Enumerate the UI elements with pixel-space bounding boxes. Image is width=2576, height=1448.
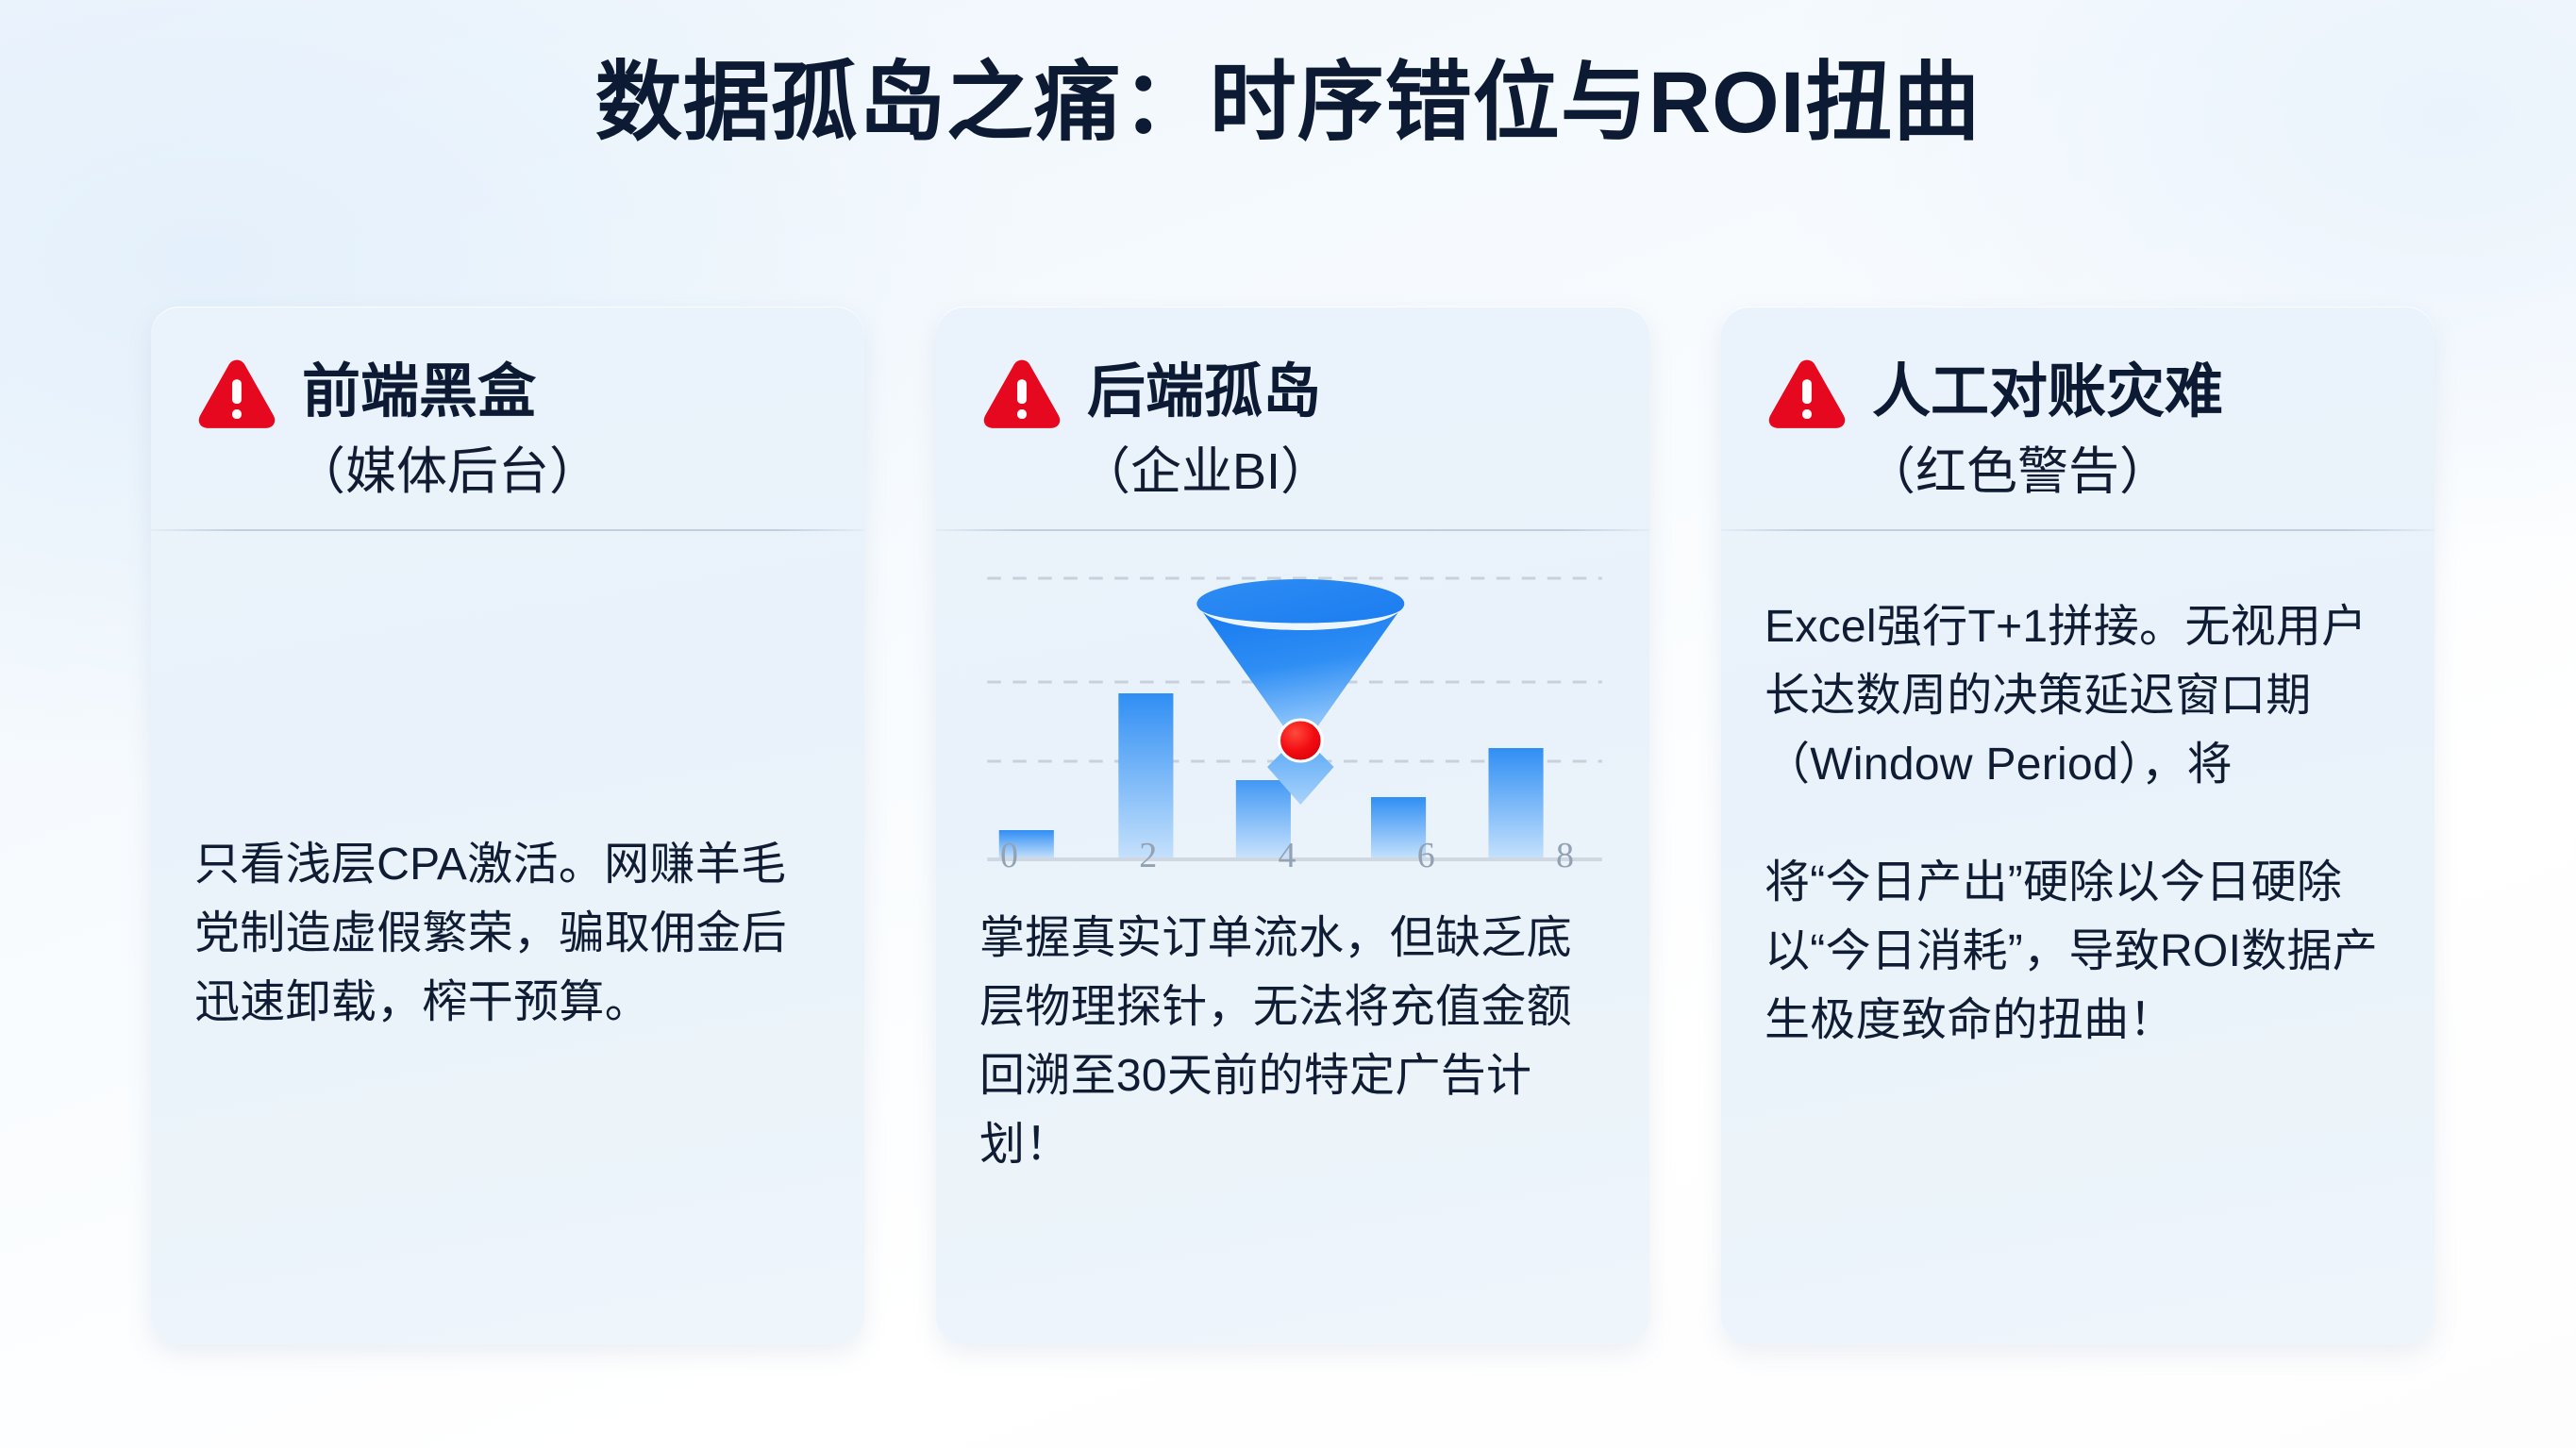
card-header-row: 后端孤岛 xyxy=(981,356,1604,429)
card-header: 前端黑盒 （媒体后台） xyxy=(151,307,864,529)
card-paragraph: 将“今日产出”硬除以今日硬除以“今日消耗”，导致ROI数据产生极度致命的扭曲！ xyxy=(1765,849,2391,1056)
x-tick-label: 8 xyxy=(1556,835,1574,876)
x-tick-label: 0 xyxy=(1000,835,1018,876)
card-paragraph: Excel强行T+1拼接。无视用户长达数周的决策延迟窗口期（Window Per… xyxy=(1765,593,2391,800)
funnel-icon xyxy=(1196,579,1404,805)
chart-svg xyxy=(979,561,1606,873)
card-title: 后端孤岛 xyxy=(1087,360,1321,424)
warning-triangle-icon xyxy=(196,356,277,429)
card-subtitle: （红色警告） xyxy=(1766,442,2389,501)
warning-triangle-icon xyxy=(1766,356,1848,429)
card-body: Excel强行T+1拼接。无视用户长达数周的决策延迟窗口期（Window Per… xyxy=(1721,531,2434,1344)
issue-card-frontend-blackbox[interactable]: 前端黑盒 （媒体后台） 只看浅层CPA激活。网赚羊毛党制造虚假繁荣，骗取佣金后迅… xyxy=(151,307,864,1344)
x-tick-label: 2 xyxy=(1139,835,1157,876)
card-paragraph: 掌握真实订单流水，但缺乏底层物理探针，无法将充值金额回溯至30天前的特定广告计划… xyxy=(979,905,1606,1180)
card-header: 后端孤岛 （企业BI） xyxy=(936,307,1649,529)
warning-triangle-icon xyxy=(981,356,1062,429)
x-tick-label: 6 xyxy=(1417,835,1435,876)
funnel-bar-chart: 0 2 4 6 8 xyxy=(979,561,1606,873)
issue-card-backend-island[interactable]: 后端孤岛 （企业BI） xyxy=(936,307,1649,1344)
card-header-row: 前端黑盒 xyxy=(196,356,819,429)
card-subtitle: （媒体后台） xyxy=(196,442,819,501)
card-header: 人工对账灾难 （红色警告） xyxy=(1721,307,2434,529)
red-dot-marker xyxy=(1279,720,1322,761)
card-subtitle: （企业BI） xyxy=(981,442,1604,501)
slide-canvas: 数据孤岛之痛：时序错位与ROI扭曲 前端黑盒 （媒体后台） 只看浅层CPA激活。… xyxy=(0,0,2576,1448)
card-body: 只看浅层CPA激活。网赚羊毛党制造虚假繁荣，骗取佣金后迅速卸载，榨干预算。 xyxy=(151,531,864,1344)
card-body: 0 2 4 6 8 掌握真实订单流水，但缺乏底层物理探针，无法将充值金额回溯至3… xyxy=(936,531,1649,1344)
card-title: 前端黑盒 xyxy=(302,360,536,424)
card-title: 人工对账灾难 xyxy=(1872,360,2223,424)
card-header-row: 人工对账灾难 xyxy=(1766,356,2389,429)
issue-card-manual-reconciliation[interactable]: 人工对账灾难 （红色警告） Excel强行T+1拼接。无视用户长达数周的决策延迟… xyxy=(1721,307,2434,1344)
x-tick-label: 4 xyxy=(1279,835,1296,876)
chart-bars xyxy=(999,693,1544,858)
issue-cards-row: 前端黑盒 （媒体后台） 只看浅层CPA激活。网赚羊毛党制造虚假繁荣，骗取佣金后迅… xyxy=(151,307,2434,1344)
page-title: 数据孤岛之痛：时序错位与ROI扭曲 xyxy=(0,49,2576,158)
chart-x-axis-labels: 0 2 4 6 8 xyxy=(979,835,1606,876)
card-paragraph: 只看浅层CPA激活。网赚羊毛党制造虚假繁荣，骗取佣金后迅速卸载，榨干预算。 xyxy=(194,831,821,1038)
